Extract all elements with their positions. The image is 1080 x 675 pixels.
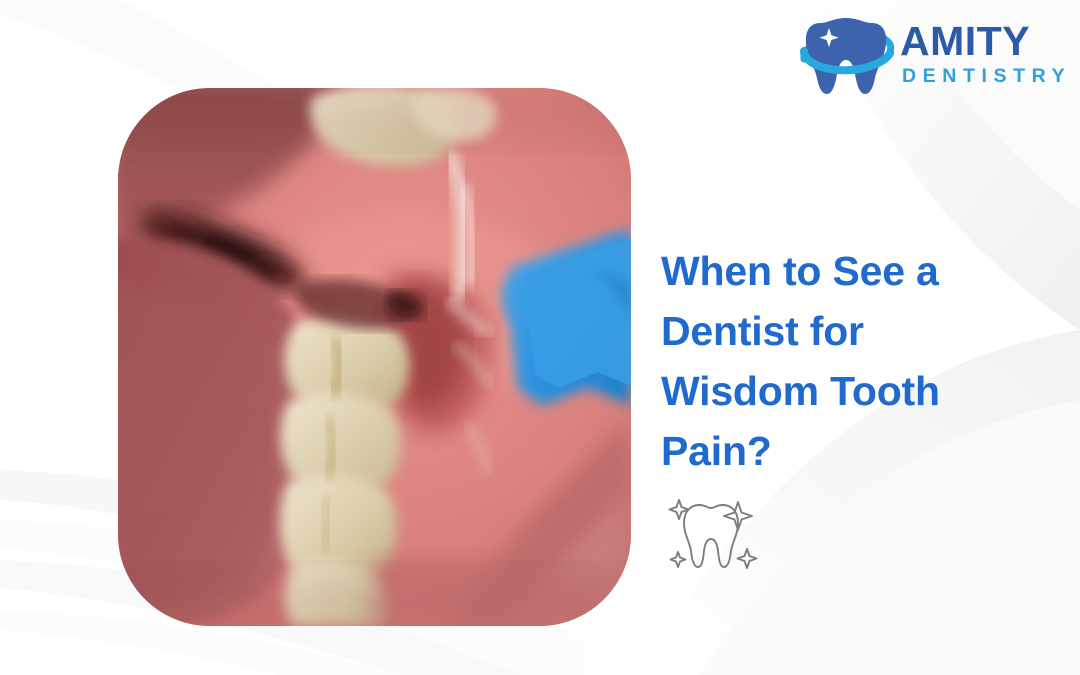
tooth-orbit-icon	[798, 10, 894, 98]
brand-name-primary: AMITY	[900, 21, 1071, 62]
brand-name-secondary: DENTISTRY	[900, 67, 1071, 87]
page-title: When to See a Dentist for Wisdom Tooth P…	[661, 241, 1021, 481]
tooth-outline-sparkle-icon	[662, 486, 766, 578]
wisdom-tooth-photo	[118, 88, 631, 626]
brand-wordmark: AMITY DENTISTRY	[900, 21, 1071, 87]
banner-canvas: AMITY DENTISTRY When to See a Dentist fo…	[0, 0, 1080, 675]
brand-logo[interactable]: AMITY DENTISTRY	[798, 8, 1066, 100]
